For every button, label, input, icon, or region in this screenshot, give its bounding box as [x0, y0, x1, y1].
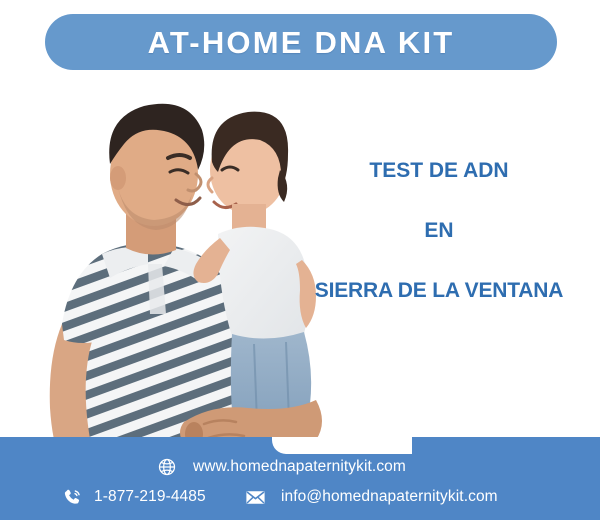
footer-email-row[interactable]: info@homednapaternitykit.com	[243, 485, 498, 509]
globe-icon	[155, 455, 179, 479]
phone-icon	[60, 485, 84, 509]
locale-line-3: SIERRA DE LA VENTANA	[286, 280, 592, 301]
footer-website-row[interactable]: www.homednapaternitykit.com	[155, 455, 406, 479]
email-text: info@homednapaternitykit.com	[281, 489, 498, 505]
website-text: www.homednapaternitykit.com	[193, 459, 406, 475]
envelope-icon	[243, 485, 267, 509]
phone-text: 1-877-219-4485	[94, 489, 206, 505]
family-photo	[0, 78, 328, 460]
locale-headline: TEST DE ADN EN SIERRA DE LA VENTANA	[286, 160, 592, 301]
footer-phone-row[interactable]: 1-877-219-4485	[60, 485, 206, 509]
promo-banner: AT-HOME DNA KIT	[0, 0, 600, 520]
locale-line-2: EN	[286, 220, 592, 241]
page-title: AT-HOME DNA KIT	[148, 27, 455, 58]
footer-notch	[272, 437, 412, 454]
header-pill: AT-HOME DNA KIT	[45, 14, 557, 70]
locale-line-1: TEST DE ADN	[286, 160, 592, 181]
